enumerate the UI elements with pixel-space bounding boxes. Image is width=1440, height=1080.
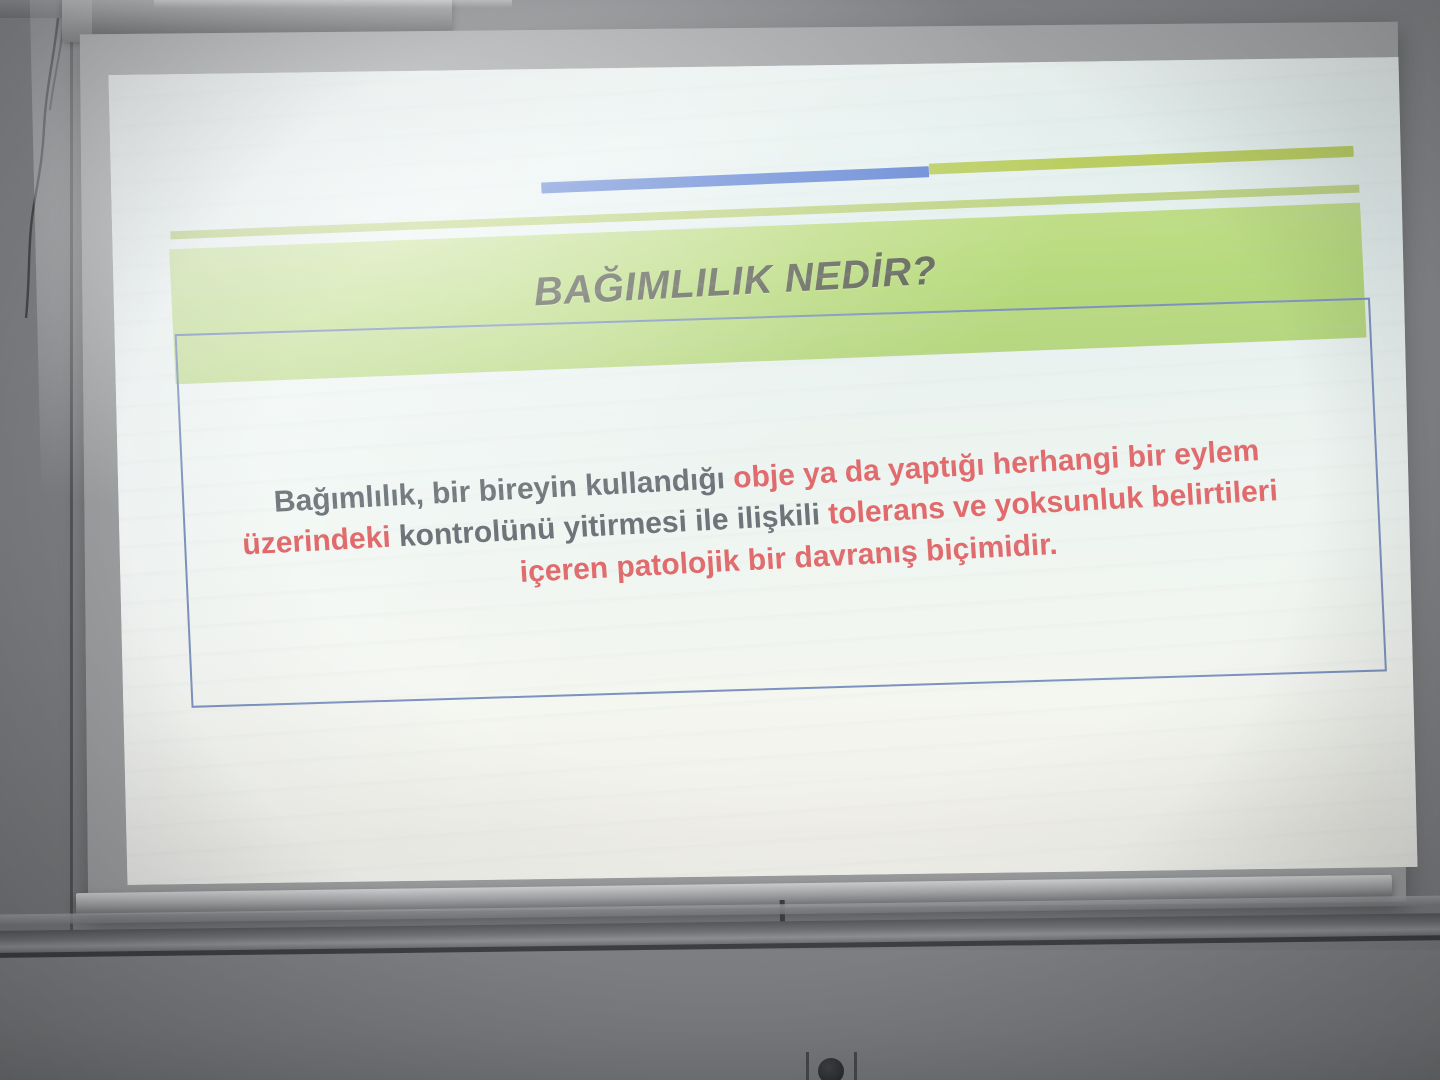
blue-accent-bar-icon bbox=[541, 166, 929, 193]
projected-slide: BAĞIMLILIK NEDİR? Bağımlılık, bir bireyi… bbox=[108, 57, 1417, 885]
fixture-bracket-right bbox=[854, 1052, 857, 1080]
wall-fixture-knob bbox=[818, 1058, 844, 1080]
roller-highlight bbox=[154, 0, 512, 8]
fixture-bracket-left bbox=[806, 1052, 809, 1080]
lower-wall bbox=[0, 950, 1440, 1080]
photo-scene: BAĞIMLILIK NEDİR? Bağımlılık, bir bireyi… bbox=[0, 0, 1440, 1080]
roller-bracket bbox=[0, 0, 70, 18]
slide-canvas: BAĞIMLILIK NEDİR? Bağımlılık, bir bireyi… bbox=[108, 57, 1417, 885]
wall-cable bbox=[24, 18, 80, 318]
body-line-2-seg-1: üzerindeki bbox=[241, 521, 399, 562]
olive-accent-bar-icon bbox=[929, 146, 1354, 175]
